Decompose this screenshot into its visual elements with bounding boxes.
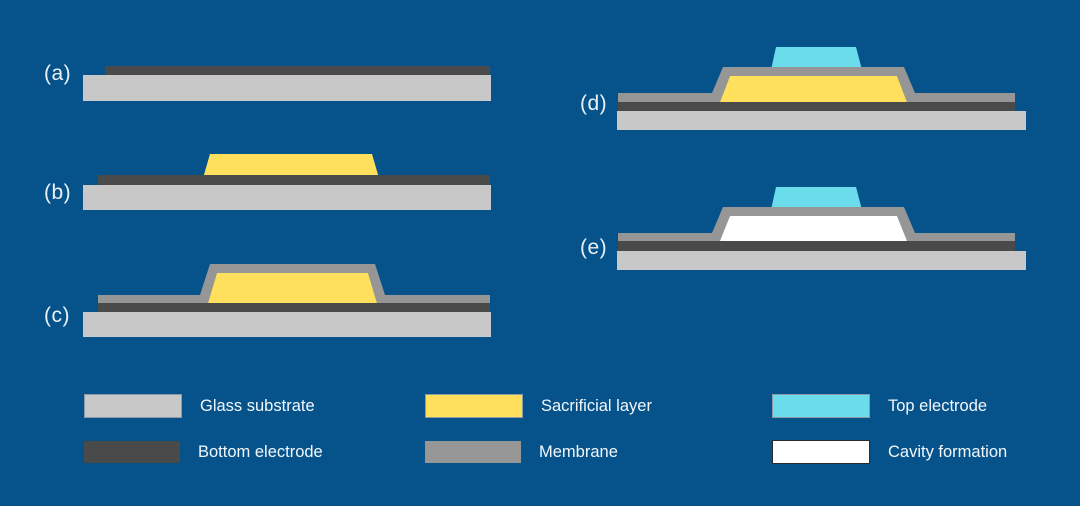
legend-swatch-bottom-electrode bbox=[84, 441, 180, 463]
panel-d-label: (d) bbox=[580, 92, 607, 116]
top-electrode-layer bbox=[771, 187, 862, 210]
bottom-electrode-layer bbox=[618, 241, 1015, 251]
panel-a-label: (a) bbox=[44, 62, 71, 86]
panel-b-cross-section bbox=[0, 140, 520, 220]
process-flow-figure: (a) (b) (c) bbox=[0, 0, 1080, 506]
legend-swatch-sacrificial-layer bbox=[425, 394, 523, 418]
bottom-electrode-layer bbox=[105, 66, 490, 75]
cavity-formation bbox=[720, 216, 907, 241]
glass-substrate-layer bbox=[83, 185, 491, 210]
panel-e-label: (e) bbox=[580, 236, 607, 260]
sacrificial-layer bbox=[720, 76, 907, 102]
panel-b-label: (b) bbox=[44, 181, 71, 205]
legend-item-glass-substrate: Glass substrate bbox=[84, 394, 315, 418]
legend-label-cavity-formation: Cavity formation bbox=[888, 443, 1007, 462]
legend-item-sacrificial-layer: Sacrificial layer bbox=[425, 394, 652, 418]
panel-d bbox=[560, 30, 1080, 130]
legend-label-bottom-electrode: Bottom electrode bbox=[198, 443, 323, 462]
panel-a-cross-section bbox=[0, 40, 520, 130]
legend-label-glass-substrate: Glass substrate bbox=[200, 397, 315, 416]
glass-substrate-layer bbox=[83, 312, 491, 337]
legend-swatch-cavity-formation bbox=[772, 440, 870, 464]
bottom-electrode-layer bbox=[98, 303, 490, 312]
panel-c-cross-section bbox=[0, 255, 520, 345]
top-electrode-layer bbox=[771, 47, 862, 70]
legend-label-top-electrode: Top electrode bbox=[888, 397, 987, 416]
panel-d-cross-section bbox=[560, 30, 1080, 130]
legend-item-cavity-formation: Cavity formation bbox=[772, 440, 1007, 464]
legend-swatch-top-electrode bbox=[772, 394, 870, 418]
legend-swatch-membrane bbox=[425, 441, 521, 463]
panel-e-cross-section bbox=[560, 170, 1080, 270]
panel-e bbox=[560, 170, 1080, 270]
legend-item-top-electrode: Top electrode bbox=[772, 394, 987, 418]
glass-substrate-layer bbox=[617, 111, 1026, 130]
panel-c-label: (c) bbox=[44, 304, 70, 328]
panel-c bbox=[0, 255, 520, 345]
legend-item-membrane: Membrane bbox=[425, 440, 618, 464]
legend-item-bottom-electrode: Bottom electrode bbox=[84, 440, 323, 464]
glass-substrate-layer bbox=[83, 75, 491, 101]
legend-label-membrane: Membrane bbox=[539, 443, 618, 462]
bottom-electrode-layer bbox=[618, 102, 1015, 111]
glass-substrate-layer bbox=[617, 251, 1026, 270]
legend: Glass substrate Bottom electrode Sacrifi… bbox=[0, 380, 1080, 480]
sacrificial-layer bbox=[208, 273, 377, 303]
panel-b bbox=[0, 140, 520, 220]
legend-swatch-glass-substrate bbox=[84, 394, 182, 418]
legend-label-sacrificial-layer: Sacrificial layer bbox=[541, 397, 652, 416]
bottom-electrode-layer bbox=[98, 175, 490, 185]
panel-a bbox=[0, 40, 520, 130]
